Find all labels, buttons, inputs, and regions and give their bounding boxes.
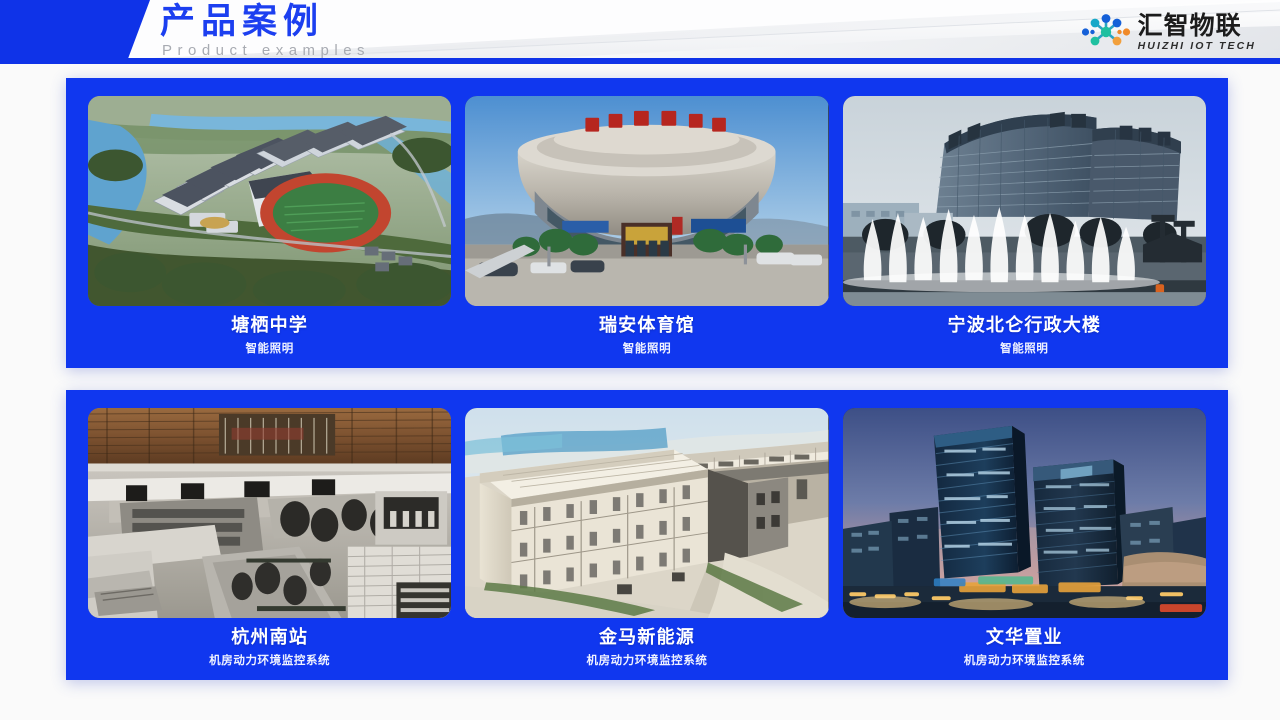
card-title: 宁波北仑行政大楼	[948, 315, 1102, 337]
jinma-new-energy-factory-photo[interactable]	[465, 408, 828, 618]
card-title: 杭州南站	[231, 627, 308, 649]
hangzhou-south-station-photo[interactable]	[88, 408, 451, 618]
case-card[interactable]: 宁波北仑行政大楼 智能照明	[843, 96, 1206, 356]
card-subtitle: 机房动力环境监控系统	[964, 653, 1085, 668]
logo-name-en: HUIZHI IOT TECH	[1138, 41, 1256, 52]
card-title: 瑞安体育馆	[599, 315, 695, 337]
logo-name-cn: 汇智物联	[1138, 13, 1256, 38]
header-accent-tab	[0, 0, 150, 64]
ruian-gymnasium-photo[interactable]	[465, 96, 828, 306]
case-panel-bottom: 杭州南站 机房动力环境监控系统	[66, 390, 1228, 680]
card-title: 塘栖中学	[231, 315, 308, 337]
card-subtitle: 机房动力环境监控系统	[209, 653, 330, 668]
ningbo-office-tower-fountain-photo[interactable]	[843, 96, 1206, 306]
aerial-school-campus-photo[interactable]	[88, 96, 451, 306]
case-card[interactable]: 瑞安体育馆 智能照明	[465, 96, 828, 356]
card-subtitle: 智能照明	[623, 341, 671, 356]
card-title: 金马新能源	[599, 627, 695, 649]
case-panel-top: 塘栖中学 智能照明	[66, 78, 1228, 368]
page-header: 产品案例 Product examples 汇智物联 HUIZHI IOT TE…	[0, 0, 1280, 64]
card-row-bottom: 杭州南站 机房动力环境监控系统	[66, 390, 1228, 680]
brand-logo[interactable]: 汇智物联 HUIZHI IOT TECH	[1081, 12, 1256, 52]
case-card[interactable]: 塘栖中学 智能照明	[88, 96, 451, 356]
card-row-top: 塘栖中学 智能照明	[66, 78, 1228, 368]
card-title: 文华置业	[986, 627, 1063, 649]
card-subtitle: 机房动力环境监控系统	[586, 653, 707, 668]
case-card[interactable]: 金马新能源 机房动力环境监控系统	[465, 408, 828, 668]
page-title: 产品案例	[160, 2, 370, 42]
card-subtitle: 智能照明	[1000, 341, 1048, 356]
card-subtitle: 智能照明	[245, 341, 293, 356]
wenhua-twin-towers-dusk-photo[interactable]	[843, 408, 1206, 618]
molecule-network-icon	[1081, 12, 1131, 52]
page-title-block: 产品案例 Product examples	[160, 2, 370, 61]
page-subtitle: Product examples	[160, 41, 370, 61]
case-card[interactable]: 文华置业 机房动力环境监控系统	[843, 408, 1206, 668]
case-card[interactable]: 杭州南站 机房动力环境监控系统	[88, 408, 451, 668]
